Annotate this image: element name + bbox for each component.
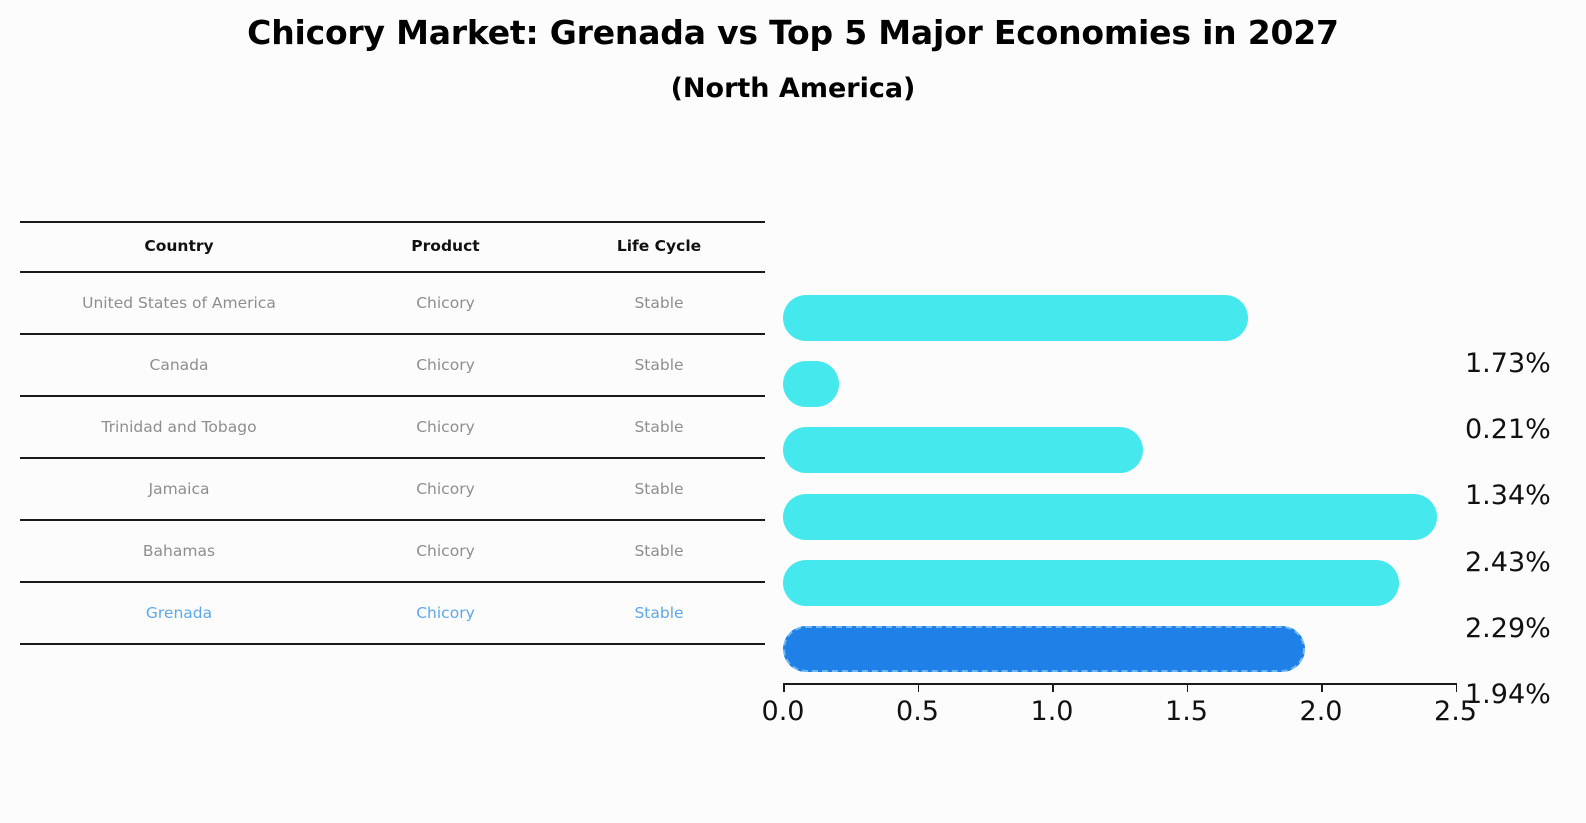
cell-product: Chicory xyxy=(338,458,553,520)
cell-country: Bahamas xyxy=(20,520,338,582)
bar-chart-plot: 1.73%0.21%1.34%2.43%2.29%1.94% 0.00.51.0… xyxy=(783,0,1586,823)
cell-life-cycle: Stable xyxy=(553,520,765,582)
table-row[interactable]: Trinidad and Tobago Chicory Stable xyxy=(20,396,765,458)
table-row[interactable]: Canada Chicory Stable xyxy=(20,334,765,396)
table-row[interactable]: United States of America Chicory Stable xyxy=(20,272,765,334)
cell-product: Chicory xyxy=(338,272,553,334)
x-axis-tick xyxy=(1456,683,1458,692)
cell-life-cycle: Stable xyxy=(553,396,765,458)
bar[interactable] xyxy=(783,494,1437,540)
x-axis-tick xyxy=(1187,683,1189,692)
cell-country: Canada xyxy=(20,334,338,396)
bar-row: 2.29% xyxy=(783,560,1586,606)
column-header-country: Country xyxy=(20,222,338,272)
cell-product: Chicory xyxy=(338,334,553,396)
table-row[interactable]: Bahamas Chicory Stable xyxy=(20,520,765,582)
cell-life-cycle: Stable xyxy=(553,334,765,396)
table-header: Country Product Life Cycle xyxy=(20,222,765,272)
x-axis-tick xyxy=(1052,683,1054,692)
bar-row: 2.43% xyxy=(783,494,1586,540)
x-axis-line xyxy=(783,683,1456,685)
cell-country: Jamaica xyxy=(20,458,338,520)
country-table-panel: Country Product Life Cycle United States… xyxy=(20,221,765,645)
bar[interactable] xyxy=(783,427,1143,473)
bar[interactable] xyxy=(783,560,1399,606)
column-header-life-cycle: Life Cycle xyxy=(553,222,765,272)
country-table: Country Product Life Cycle United States… xyxy=(20,221,765,645)
cell-life-cycle: Stable xyxy=(553,458,765,520)
bar[interactable] xyxy=(783,361,839,407)
cell-country: Trinidad and Tobago xyxy=(20,396,338,458)
x-axis-tick-label: 1.0 xyxy=(1031,696,1074,727)
x-axis-tick-label: 1.5 xyxy=(1165,696,1208,727)
cell-country: Grenada xyxy=(20,582,338,644)
bar[interactable] xyxy=(783,295,1248,341)
bar-row: 0.21% xyxy=(783,361,1586,407)
cell-life-cycle: Stable xyxy=(553,272,765,334)
cell-life-cycle: Stable xyxy=(553,582,765,644)
column-header-product: Product xyxy=(338,222,553,272)
table-row-highlighted[interactable]: Grenada Chicory Stable xyxy=(20,582,765,644)
x-axis-tick-label: 0.5 xyxy=(896,696,939,727)
x-axis-tick xyxy=(918,683,920,692)
table-body: United States of America Chicory Stable … xyxy=(20,272,765,644)
table-header-row: Country Product Life Cycle xyxy=(20,222,765,272)
x-axis-tick-label: 0.0 xyxy=(762,696,805,727)
cell-country: United States of America xyxy=(20,272,338,334)
x-axis-tick-label: 2.0 xyxy=(1300,696,1343,727)
bar-row: 1.94% xyxy=(783,626,1586,672)
table-row[interactable]: Jamaica Chicory Stable xyxy=(20,458,765,520)
x-axis-tick xyxy=(1321,683,1323,692)
bar-row: 1.73% xyxy=(783,295,1586,341)
cell-product: Chicory xyxy=(338,582,553,644)
bar-row: 1.34% xyxy=(783,427,1586,473)
x-axis-tick xyxy=(783,683,785,692)
cell-product: Chicory xyxy=(338,520,553,582)
x-axis-tick-label: 2.5 xyxy=(1434,696,1477,727)
bar-highlighted[interactable] xyxy=(783,626,1305,672)
cell-product: Chicory xyxy=(338,396,553,458)
